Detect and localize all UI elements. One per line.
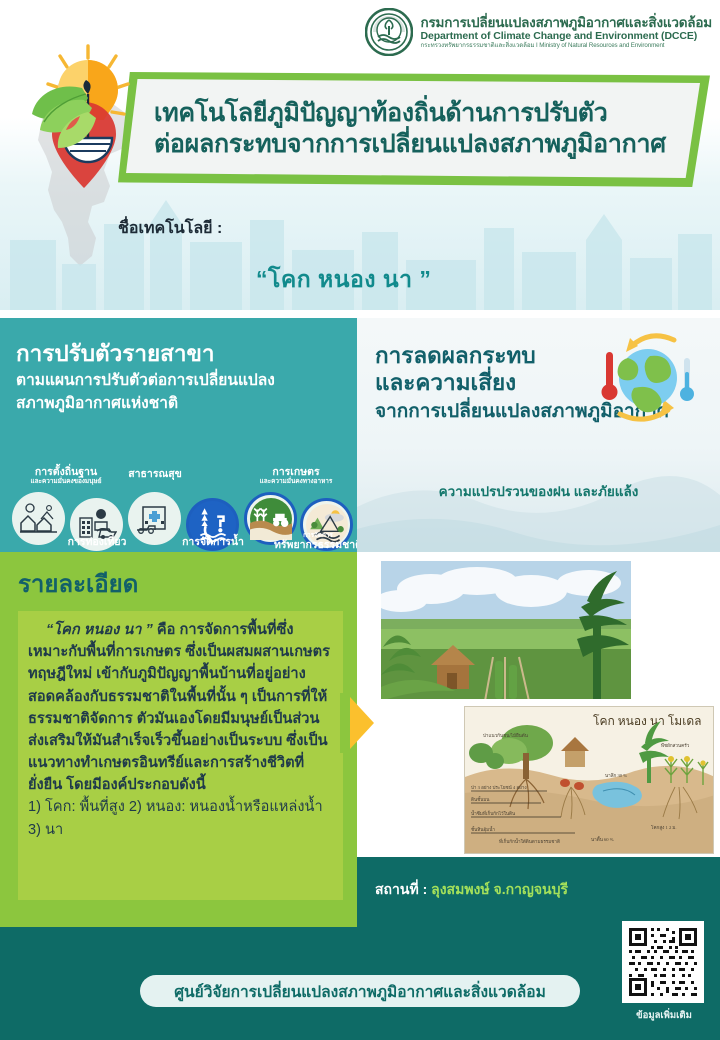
title-banner: เทคโนโลยีภูมิปัญญาท้องถิ่นด้านการปรับตัว… (118, 72, 710, 187)
location-label: สถานที่ : (375, 881, 427, 897)
qr-code-icon[interactable] (622, 921, 704, 1003)
location-line: สถานที่ : ลุงสมพงษ์ จ.กาญจนบุรี (375, 879, 568, 901)
svg-text:ป่า 3 อย่าง ประโยชน์ 4 อย่าง: ป่า 3 อย่าง ประโยชน์ 4 อย่าง (471, 784, 527, 790)
globe-thermometer-icon (588, 332, 706, 437)
mitigation-risk-text: ความแปรปรวนของฝน และภัยแล้ง (357, 480, 720, 502)
poster-root: กรมการเปลี่ยนแปลงสภาพภูมิอากาศและสิ่งแวด… (0, 0, 720, 1040)
adaptation-heading: การปรับตัวรายสาขา (16, 340, 341, 368)
svg-text:นาตื้น 60 %: นาตื้น 60 % (591, 836, 614, 842)
detail-panel: รายละเอียด “โคก หนอง นา ” คือ การจัดการพ… (0, 552, 357, 927)
svg-text:ที่เก็บกักน้ำใต้ดินตามธรรมชาติ: ที่เก็บกักน้ำใต้ดินตามธรรมชาติ (499, 837, 560, 844)
dcce-logo: กรมการเปลี่ยนแปลงสภาพภูมิอากาศและสิ่งแวด… (365, 8, 712, 56)
logo-ministry-line: กระทรวงทรัพยากรธรรมชาติและสิ่งแวดล้อม I … (421, 42, 712, 49)
sector-label-settlement: การตั้งถิ่นฐาน และความมั่นคงของมนุษย์ (6, 466, 126, 485)
svg-text:พืชผักสวนครัว: พืชผักสวนครัว (661, 742, 690, 748)
logo-english-name: Department of Climate Change and Environ… (421, 30, 712, 42)
svg-text:โคกสูง 1 2 ม.: โคกสูง 1 2 ม. (651, 824, 677, 831)
adaptation-subheading-line2: สภาพภูมิอากาศแห่งชาติ (16, 393, 341, 415)
svg-text:ดินชั้นบน: ดินชั้นบน (471, 796, 490, 802)
lightbulb-leaf-map-pin-icon (22, 42, 152, 222)
media-column: โคก หนอง นา โมเดล (357, 552, 720, 927)
qr-caption: ข้อมูลเพิ่มเติม (618, 1008, 710, 1023)
detail-body: “โคก หนอง นา ” คือ การจัดการพื้นที่ซึ่งเ… (18, 611, 343, 929)
logo-thai-name: กรมการเปลี่ยนแปลงสภาพภูมิอากาศและสิ่งแวด… (421, 15, 712, 31)
detail-quoted-name: “โคก หนอง นา ” (46, 622, 153, 638)
khok-nong-na-model-diagram: โคก หนอง นา โมเดล (464, 706, 714, 854)
location-value: ลุงสมพงษ์ จ.กาญจนบุรี (431, 881, 568, 897)
svg-text:ชั้นหินอุ้มน้ำ: ชั้นหินอุ้มน้ำ (471, 826, 495, 833)
location-strip: สถานที่ : ลุงสมพงษ์ จ.กาญจนบุรี (357, 857, 720, 927)
svg-text:ป่าแนวกันชน/ไม้ยืนต้น: ป่าแนวกันชน/ไม้ยืนต้น (483, 732, 529, 738)
title-line-1: เทคโนโลยีภูมิปัญญาท้องถิ่นด้านการปรับตัว (154, 98, 686, 129)
sector-label-water-management: การจัดการน้ำ (174, 536, 252, 548)
header-section: กรมการเปลี่ยนแปลงสภาพภูมิอากาศและสิ่งแวด… (0, 0, 720, 310)
adaptation-subheading-line1: ตามแผนการปรับตัวต่อการเปลี่ยนแปลง (16, 370, 341, 392)
technology-name: “โคก หนอง นา ” (256, 262, 431, 298)
sector-label-agriculture: การเกษตร และความมั่นคงทางอาหาร (236, 466, 356, 485)
sector-icon-row: การตั้งถิ่นฐาน และความมั่นคงของมนุษย์ (8, 470, 358, 550)
detail-panel-base (0, 900, 357, 930)
sector-label-tourism: การท่องเที่ยว (58, 536, 136, 548)
detail-paragraph: “โคก หนอง นา ” คือ การจัดการพื้นที่ซึ่งเ… (28, 619, 333, 796)
next-arrow-icon[interactable] (340, 693, 374, 753)
mitigation-panel: การลดผลกระทบ และความเสี่ยง จากการเปลี่ยน… (357, 318, 720, 552)
dcce-emblem-icon (365, 8, 413, 56)
detail-heading: รายละเอียด (18, 564, 343, 603)
technology-label: ชื่อเทคโนโลยี : (118, 216, 222, 241)
research-center-pill: ศูนย์วิจัยการเปลี่ยนแปลงสภาพภูมิอากาศและ… (140, 975, 580, 1007)
svg-text:นาลึก 30 %: นาลึก 30 % (605, 773, 627, 778)
farm-landscape-photo (380, 560, 632, 700)
banner-white-face: เทคโนโลยีภูมิปัญญาท้องถิ่นด้านการปรับตัว… (126, 79, 700, 178)
sector-label-natural-resources: การจัดการ ทรัพยากรธรรมชาติ (268, 532, 368, 551)
detail-body-text: คือ การจัดการพื้นที่ซึ่งเหมาะกับพื้นที่ก… (28, 622, 330, 793)
svg-text:น้ำซึมที่เก็บกักไว้ในดิน: น้ำซึมที่เก็บกักไว้ในดิน (471, 809, 516, 816)
research-center-name: ศูนย์วิจัยการเปลี่ยนแปลงสภาพภูมิอากาศและ… (174, 979, 546, 1004)
diagram-title-text: โคก หนอง นา โมเดล (593, 714, 701, 728)
detail-components: 1) โคก: พื้นที่สูง 2) หนอง: หนองน้ำหรือแ… (28, 796, 333, 840)
sector-label-public-health: สาธารณสุข (120, 468, 190, 480)
title-line-2: ต่อผลกระทบจากการเปลี่ยนแปลงสภาพภูมิอากาศ (154, 129, 686, 160)
